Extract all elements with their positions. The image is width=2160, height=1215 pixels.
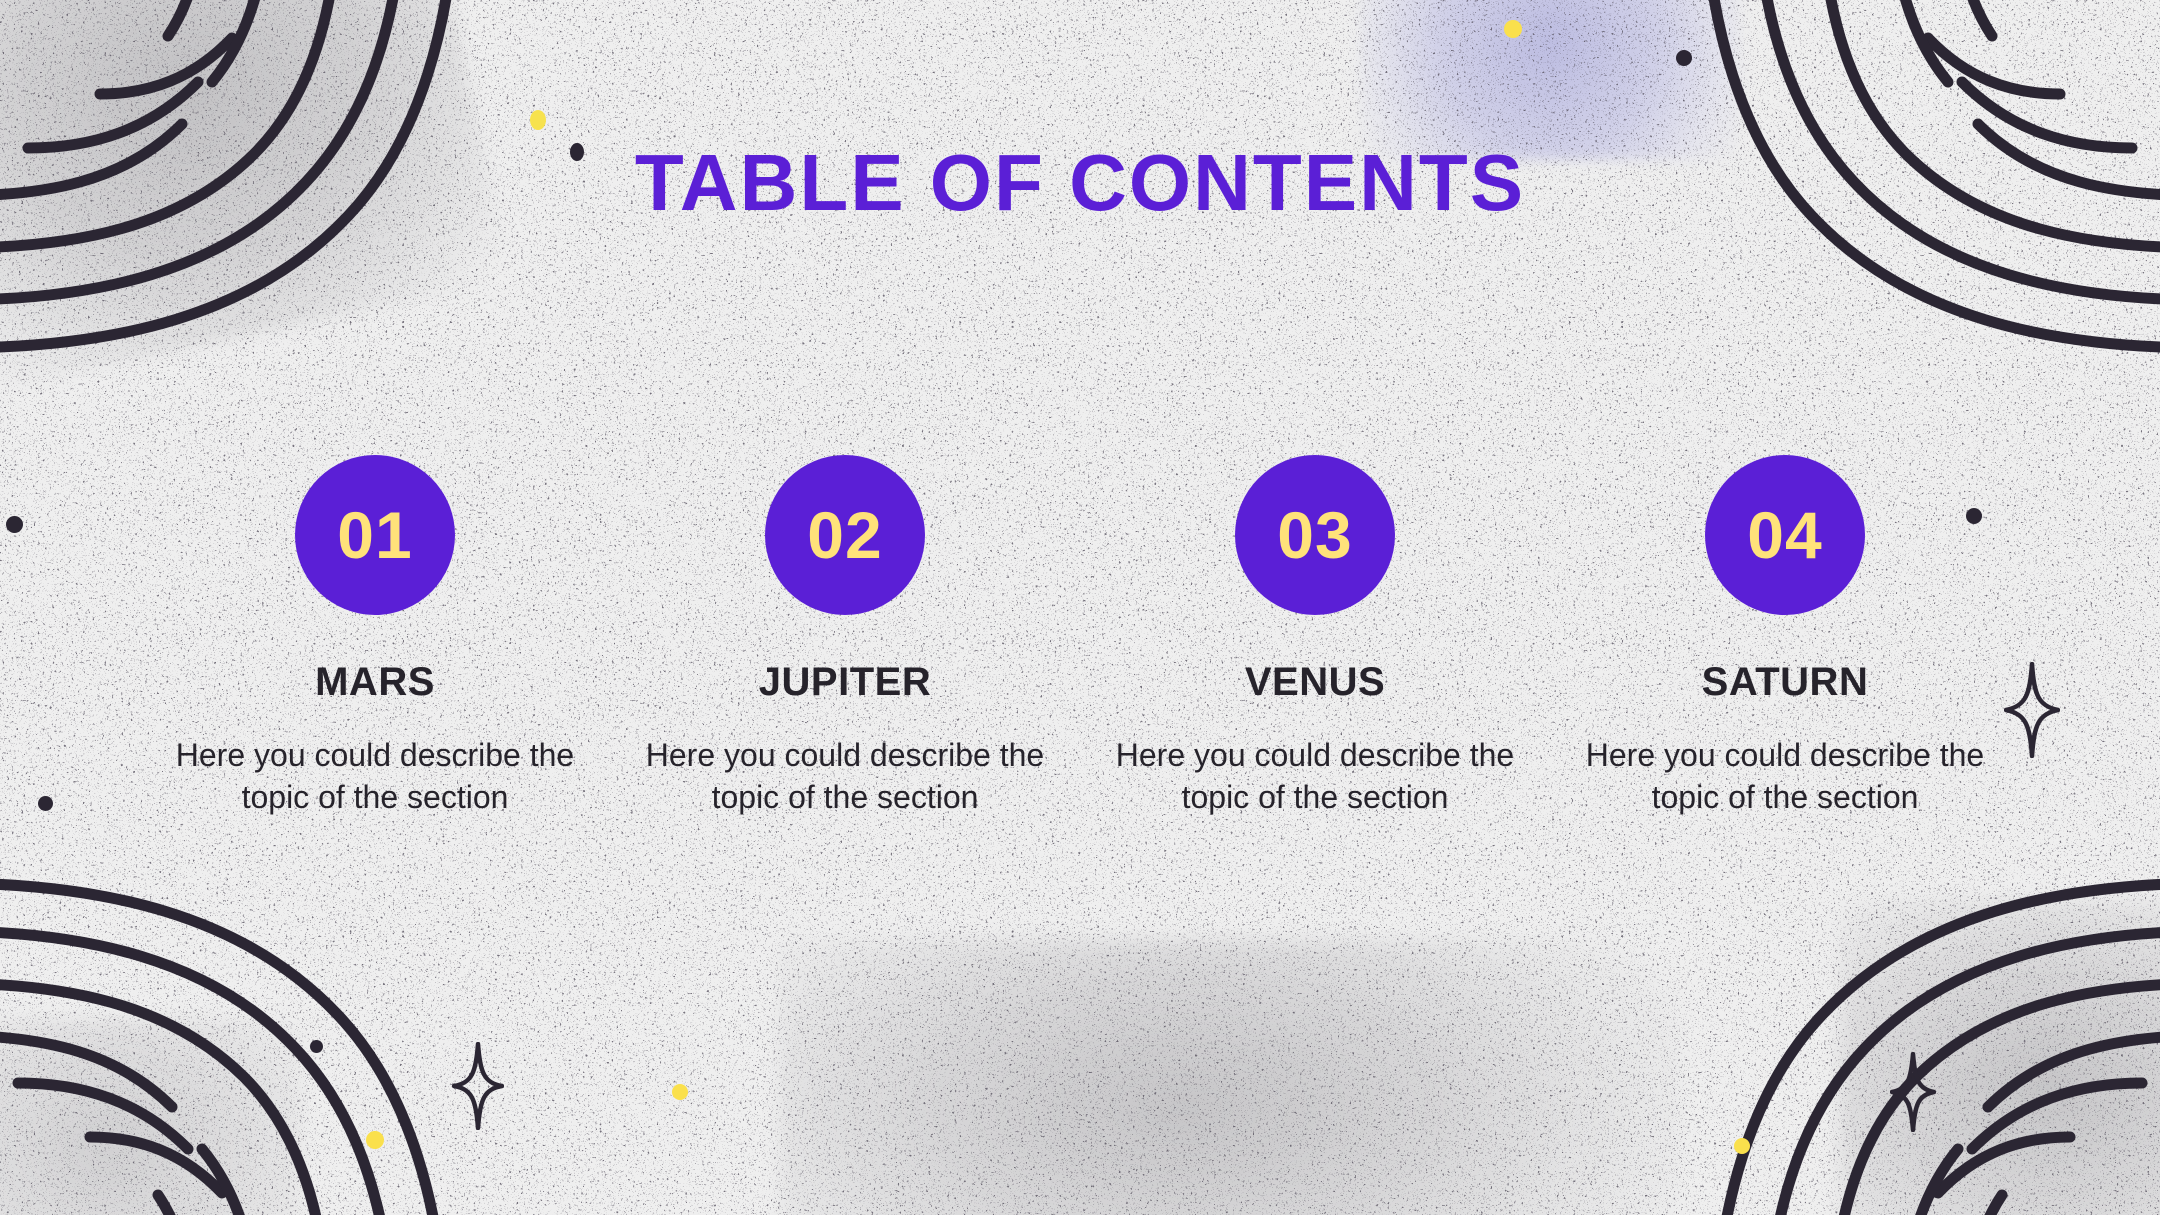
section-title-1: MARS (315, 662, 435, 702)
section-number-badge-1: 01 (295, 455, 455, 615)
watercolor-grey-bottom-left (0, 1020, 300, 1215)
section-number-4: 04 (1747, 502, 1822, 568)
section-column-1[interactable]: 01 MARS Here you could describe the topi… (180, 455, 570, 818)
sparkle-star-bottom-right-icon (1890, 1052, 1936, 1137)
section-description-4: Here you could describe the topic of the… (1585, 734, 1985, 818)
section-column-3[interactable]: 03 VENUS Here you could describe the top… (1120, 455, 1510, 818)
section-number-badge-4: 04 (1705, 455, 1865, 615)
section-column-2[interactable]: 02 JUPITER Here you could describe the t… (650, 455, 1040, 818)
corner-arcs-bottom-right (1656, 855, 2160, 1215)
section-number-1: 01 (337, 502, 412, 568)
watercolor-grey-bottom-center (780, 940, 1680, 1215)
yellow-dot-bottom-right (1734, 1138, 1750, 1154)
section-column-4[interactable]: 04 SATURN Here you could describe the to… (1590, 455, 1980, 818)
section-number-3: 03 (1277, 502, 1352, 568)
section-description-3: Here you could describe the topic of the… (1115, 734, 1515, 818)
dark-dot-left-mid (6, 516, 23, 533)
yellow-dot-top-left (530, 110, 546, 130)
yellow-dot-top-right (1504, 20, 1522, 38)
page-title: TABLE OF CONTENTS (0, 143, 2160, 223)
watercolor-grey-bottom-right (1840, 900, 2160, 1215)
sparkle-star-bottom-icon (452, 1042, 504, 1135)
section-number-badge-3: 03 (1235, 455, 1395, 615)
yellow-dot-bottom-mid (672, 1084, 688, 1100)
dark-dot-right-upper (1676, 50, 1692, 66)
corner-arcs-bottom-left (0, 855, 504, 1215)
section-title-3: VENUS (1245, 662, 1385, 702)
sections-row: 01 MARS Here you could describe the topi… (180, 455, 1980, 818)
yellow-dot-bottom-left (366, 1131, 384, 1149)
dark-dot-left-low (38, 796, 53, 811)
slide-canvas: TABLE OF CONTENTS 01 MARS Here you could… (0, 0, 2160, 1215)
section-title-4: SATURN (1702, 662, 1869, 702)
section-description-1: Here you could describe the topic of the… (175, 734, 575, 818)
section-number-2: 02 (807, 502, 882, 568)
section-description-2: Here you could describe the topic of the… (645, 734, 1045, 818)
section-title-2: JUPITER (759, 662, 931, 702)
sparkle-star-right-icon (2004, 662, 2060, 763)
dark-dot-bottom-left (310, 1040, 323, 1053)
section-number-badge-2: 02 (765, 455, 925, 615)
watercolor-lavender-top-right (1360, 0, 1740, 160)
